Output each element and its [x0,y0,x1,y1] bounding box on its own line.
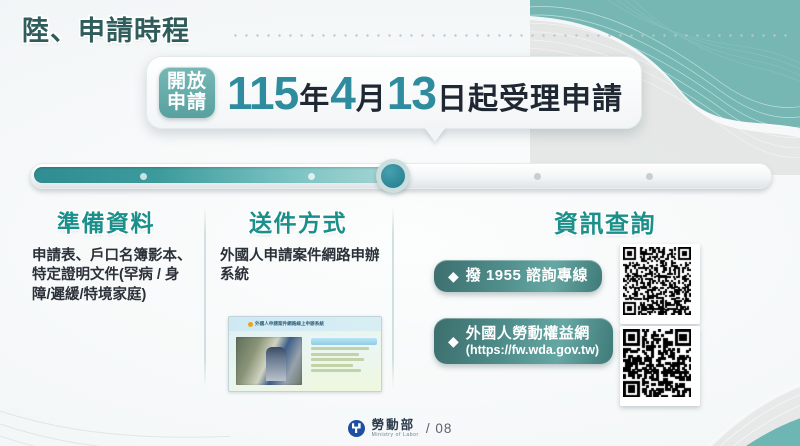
open-application-badge: 開放 申請 [159,67,215,118]
badge-line-2: 申請 [167,93,207,114]
date-callout-bubble: 開放 申請 115 年 4 月 13 日 起受理申請 [146,56,642,129]
thumb-site-header: 外國人申請案件網路線上申辦系統 [229,317,382,331]
year-unit: 年 [299,85,329,115]
qr-code-canvas [623,329,691,397]
ministry-of-labor-logo-icon [348,420,365,437]
slider-handle[interactable] [376,159,410,193]
slider-progress-fill [34,167,393,183]
website-pill-label: 外國人勞動權益網 [466,325,590,342]
page-number: / 08 [426,421,453,436]
qr-code-website[interactable] [620,326,700,406]
thumb-photo-image [236,337,302,385]
org-name-en: Ministry of Labor [372,433,419,438]
title-dotted-rule [230,30,790,44]
online-application-system-screenshot[interactable]: 外國人申請案件網路線上申辦系統 [228,316,382,392]
column-prepare-documents: 準備資料 申請表、戶口名簿影本、特定證明文件(罕病 / 身障/遲緩/特境家庭) [16,204,196,305]
column-divider-2 [392,206,394,388]
badge-line-1: 開放 [167,72,207,93]
thumb-button [311,338,377,345]
thumb-text-line [311,347,369,350]
column-information-inquiry: 資訊查詢 ◆ 撥 1955 諮詢專線 ◆ 外國人勞動權益網 (https://f… [420,204,790,248]
slide-root: 陸、申請時程 開放 申請 115 年 4 月 13 日 起受理申請 準備資料 [0,0,800,446]
three-column-section: 準備資料 申請表、戶口名簿影本、特定證明文件(罕病 / 身障/遲緩/特境家庭) … [0,204,800,404]
diamond-bullet-icon: ◆ [448,269,459,283]
column-3-heading: 資訊查詢 [420,204,790,239]
month-number: 4 [330,70,355,116]
year-number: 115 [227,70,298,116]
thumb-content-panel [309,336,379,390]
website-pill-url: (https://fw.wda.gov.tw) [466,343,599,357]
slider-tick-4 [646,173,653,180]
date-tail-text: 起受理申請 [468,85,623,115]
qr-code-hotline[interactable] [620,244,700,324]
thumb-text-line [311,364,353,367]
thumb-text-line [311,369,361,372]
column-2-body: 外國人申請案件網路申辦系統 [214,247,382,286]
day-number: 13 [387,70,436,116]
hotline-pill-label: 撥 1955 諮詢專線 [466,267,588,285]
qr-code-canvas [623,247,691,315]
column-divider-1 [204,206,206,388]
date-text: 115 年 4 月 13 日 起受理申請 [227,70,623,116]
slider-tick-2 [308,173,315,180]
column-1-heading: 準備資料 [16,204,196,238]
thumb-text-line [311,353,359,356]
thumb-text-line [311,358,364,361]
month-unit: 月 [356,85,386,115]
day-unit: 日 [437,85,467,115]
slider-tick-1 [140,173,147,180]
website-pill[interactable]: ◆ 外國人勞動權益網 (https://fw.wda.gov.tw) [434,318,613,364]
hotline-pill[interactable]: ◆ 撥 1955 諮詢專線 [434,260,602,292]
ministry-of-labor-wordmark: 勞動部 Ministry of Labor [372,419,419,439]
diamond-bullet-icon: ◆ [448,334,459,348]
page-title: 陸、申請時程 [22,9,190,48]
slider-tick-3 [534,173,541,180]
column-submission-method: 送件方式 外國人申請案件網路申辦系統 [214,204,382,286]
timeline-slider[interactable] [30,158,770,192]
column-2-heading: 送件方式 [214,204,382,238]
footer: 勞動部 Ministry of Labor / 08 [0,419,800,439]
column-1-body: 申請表、戶口名簿影本、特定證明文件(罕病 / 身障/遲緩/特境家庭) [16,247,196,305]
org-name-zh: 勞動部 [372,419,419,432]
